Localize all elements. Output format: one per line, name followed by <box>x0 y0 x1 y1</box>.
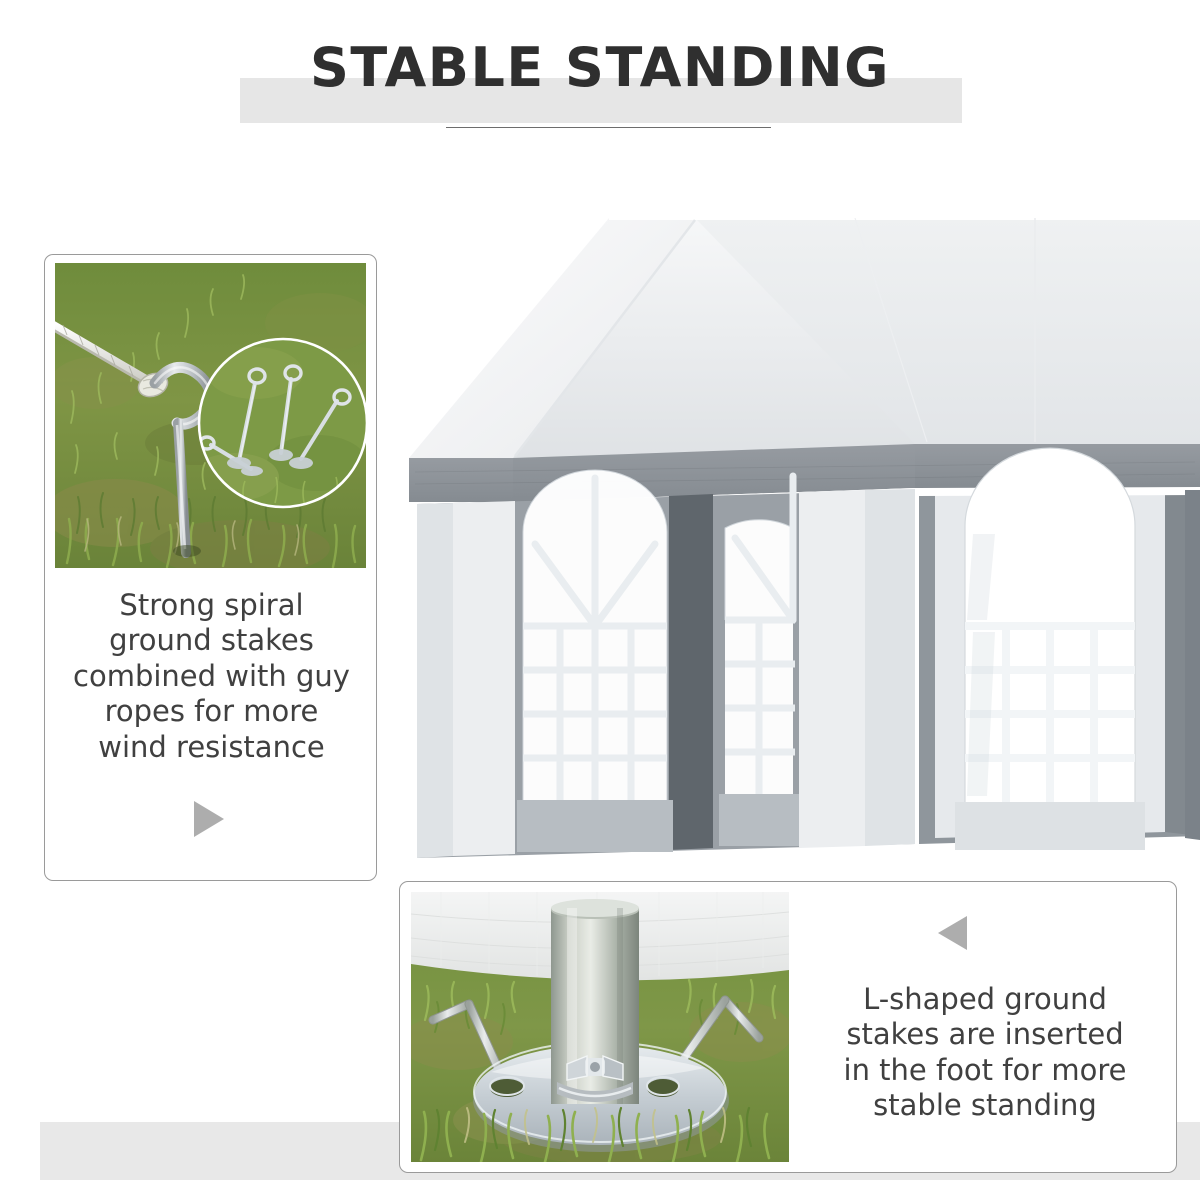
feature-caption-l-shaped-stakes: L-shaped ground stakes are inserted in t… <box>810 982 1160 1124</box>
infographic-page: STABLE STANDING <box>0 0 1200 1200</box>
feature-card-l-shaped-stakes: L-shaped ground stakes are inserted in t… <box>399 881 1177 1173</box>
triangle-left-icon <box>938 916 967 950</box>
feature-caption-spiral-stakes: Strong spiral ground stakes combined wit… <box>49 588 374 765</box>
pole-foot-plate-photo <box>411 892 789 1162</box>
feature-card-spiral-stakes: Strong spiral ground stakes combined wit… <box>44 254 377 881</box>
page-title: STABLE STANDING <box>0 38 1200 97</box>
triangle-right-icon <box>194 801 224 837</box>
hero-product-image <box>395 196 1200 876</box>
spiral-ground-stake-photo <box>55 263 366 568</box>
title-divider-rule <box>446 127 771 128</box>
